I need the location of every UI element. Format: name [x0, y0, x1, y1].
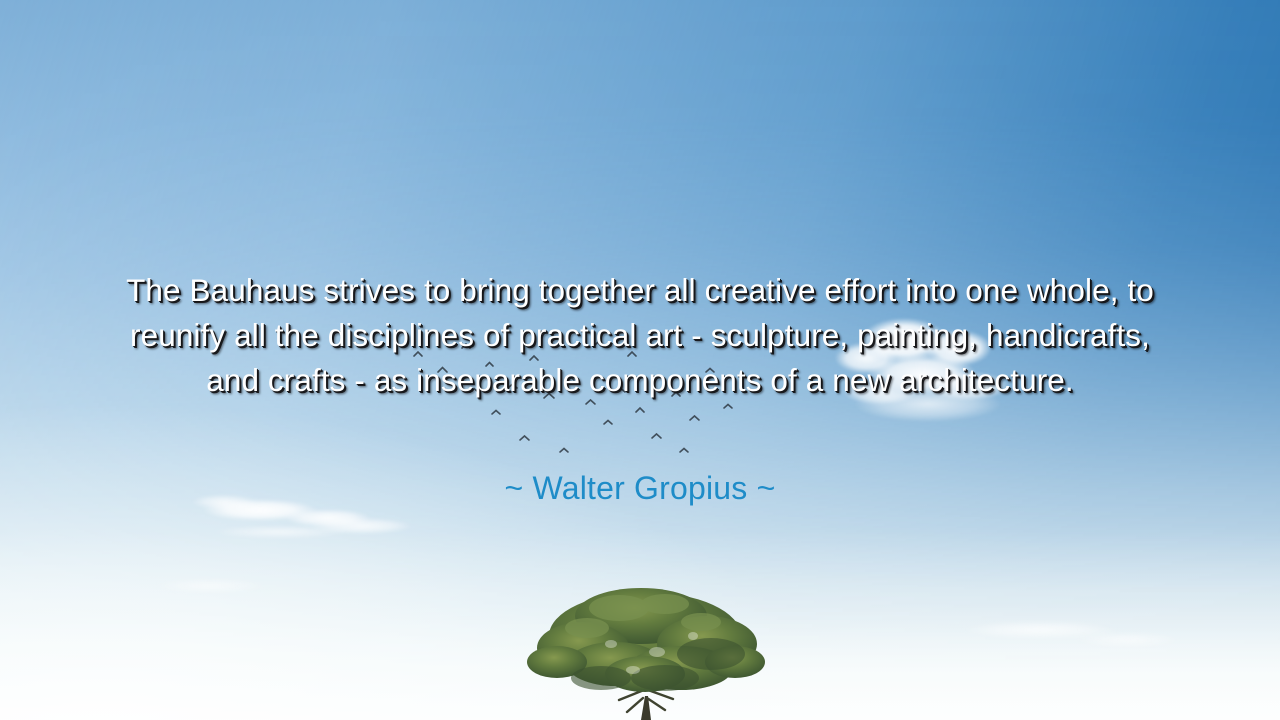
quote-block: The Bauhaus strives to bring together al…	[120, 268, 1160, 403]
attribution-text: ~ Walter Gropius ~	[190, 466, 1090, 510]
quote-wallpaper: The Bauhaus strives to bring together al…	[0, 0, 1280, 720]
lone-tree	[515, 578, 775, 720]
attribution-block: ~ Walter Gropius ~	[190, 466, 1090, 510]
quote-text: The Bauhaus strives to bring together al…	[120, 268, 1160, 403]
